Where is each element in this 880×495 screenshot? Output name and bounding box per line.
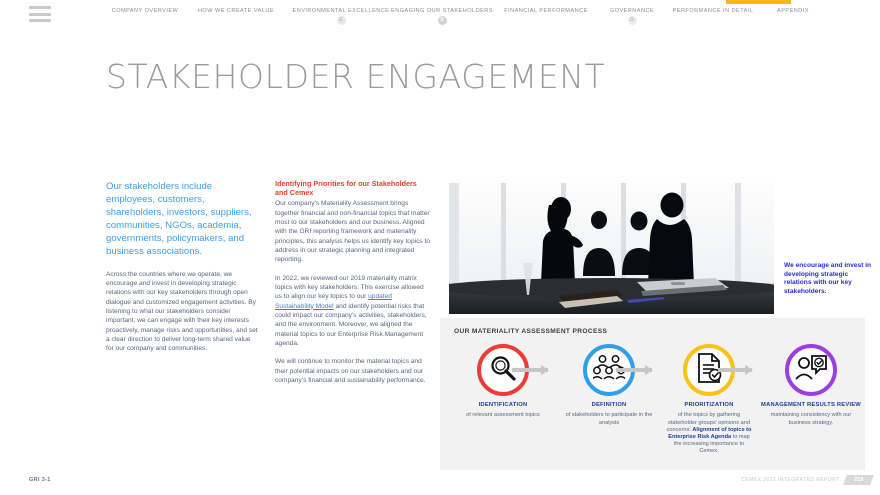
process-steps-container: IDENTIFICATIONof relevant assessment top… xyxy=(440,344,865,470)
process-step-description: of the topics by gathering stakeholder g… xyxy=(656,412,762,455)
page-number: 219 xyxy=(854,477,863,483)
process-step-desc-plain: of stakeholders to participate in the an… xyxy=(566,412,653,425)
process-step-label: PRIORITIZATION xyxy=(656,402,762,409)
nav-item-label: PERFORMANCE IN DETAIL xyxy=(658,8,768,14)
nav-badge-g: G xyxy=(628,16,637,25)
nav-item-engaging-our-stakeholders[interactable]: ENGAGING OUR STAKEHOLDERSS xyxy=(380,8,504,25)
right-text-column: Identifying Priorities for our Stakehold… xyxy=(275,180,431,394)
process-step-prioritization[interactable]: PRIORITIZATIONof the topics by gathering… xyxy=(656,344,762,456)
report-name: CEMEX 2022 INTEGRATED REPORT xyxy=(741,477,839,483)
person-feedback-icon xyxy=(795,354,827,387)
nav-item-how-we-create-value[interactable]: HOW WE CREATE VALUE xyxy=(188,8,284,14)
process-step-desc-plain: maintaining consistency with our busines… xyxy=(771,412,852,425)
hamburger-line xyxy=(29,13,51,16)
process-step-management-results-review[interactable]: MANAGEMENT RESULTS REVIEWmaintaining con… xyxy=(758,344,864,427)
nav-item-label: HOW WE CREATE VALUE xyxy=(188,8,284,14)
nav-badge-s: S xyxy=(438,16,447,25)
left-text-column: Our stakeholders include employees, cust… xyxy=(106,180,258,363)
nav-item-label: FINANCIAL PERFORMANCE xyxy=(492,8,600,14)
right-paragraph-2: In 2022, we reviewed our 2019 materialit… xyxy=(275,274,431,349)
gri-reference: GRI 3-1 xyxy=(29,477,51,483)
hamburger-line xyxy=(29,19,51,22)
process-step-label: DEFINITION xyxy=(556,402,662,409)
report-page: COMPANY OVERVIEWHOW WE CREATE VALUEENVIR… xyxy=(0,0,880,495)
nav-item-appendix[interactable]: APPENDIX xyxy=(760,8,826,14)
section-heading: Identifying Priorities for our Stakehold… xyxy=(275,180,431,197)
hamburger-menu-icon[interactable] xyxy=(29,6,51,22)
process-step-identification[interactable]: IDENTIFICATIONof relevant assessment top… xyxy=(450,344,556,420)
top-navigation-bar: COMPANY OVERVIEWHOW WE CREATE VALUEENVIR… xyxy=(0,0,880,28)
process-step-label: MANAGEMENT RESULTS REVIEW xyxy=(758,402,864,409)
left-body-paragraph: Across the countries where we operate, w… xyxy=(106,270,258,354)
nav-badge-e: E xyxy=(337,16,346,25)
process-step-circle xyxy=(785,344,837,396)
hamburger-line xyxy=(29,6,51,9)
lead-paragraph: Our stakeholders include employees, cust… xyxy=(106,180,258,259)
nav-item-financial-performance[interactable]: FINANCIAL PERFORMANCE xyxy=(492,8,600,14)
right-paragraph-3: We will continue to monitor the material… xyxy=(275,357,431,385)
process-arrow-1 xyxy=(512,368,548,372)
process-arrow-2 xyxy=(616,368,652,372)
process-step-description: of stakeholders to participate in the an… xyxy=(556,412,662,426)
page-number-badge: 219 xyxy=(843,475,874,485)
materiality-process-panel: OUR MATERIALITY ASSESSMENT PROCESS IDENT… xyxy=(440,318,865,470)
process-arrow-3 xyxy=(718,368,752,372)
footer-right: CEMEX 2022 INTEGRATED REPORT 219 xyxy=(741,475,872,485)
process-step-definition[interactable]: DEFINITIONof stakeholders to participate… xyxy=(556,344,662,427)
nav-item-label: APPENDIX xyxy=(760,8,826,14)
process-panel-title: OUR MATERIALITY ASSESSMENT PROCESS xyxy=(454,328,607,335)
nav-item-performance-in-detail[interactable]: PERFORMANCE IN DETAIL xyxy=(658,8,768,14)
right-paragraph-1: Our company’s Materiality Assessment bri… xyxy=(275,199,431,264)
meeting-photo-illustration xyxy=(449,183,774,314)
process-step-desc-plain: of relevant assessment topics xyxy=(466,412,540,418)
process-step-description: of relevant assessment topics xyxy=(450,412,556,419)
pull-quote: We encourage and invest in developing st… xyxy=(784,262,874,296)
nav-items-container: COMPANY OVERVIEWHOW WE CREATE VALUEENVIR… xyxy=(100,0,880,28)
paragraph-2-text-before: In 2022, we reviewed our 2019 materialit… xyxy=(275,275,424,301)
nav-item-label: COMPANY OVERVIEW xyxy=(100,8,190,14)
process-step-label: IDENTIFICATION xyxy=(450,402,556,409)
active-section-indicator xyxy=(726,0,791,4)
meeting-photo xyxy=(449,183,774,314)
process-step-description: maintaining consistency with our busines… xyxy=(758,412,864,426)
page-title: STAKEHOLDER ENGAGEMENT xyxy=(106,57,605,96)
nav-item-label: ENGAGING OUR STAKEHOLDERS xyxy=(380,8,504,14)
nav-item-company-overview[interactable]: COMPANY OVERVIEW xyxy=(100,8,190,14)
